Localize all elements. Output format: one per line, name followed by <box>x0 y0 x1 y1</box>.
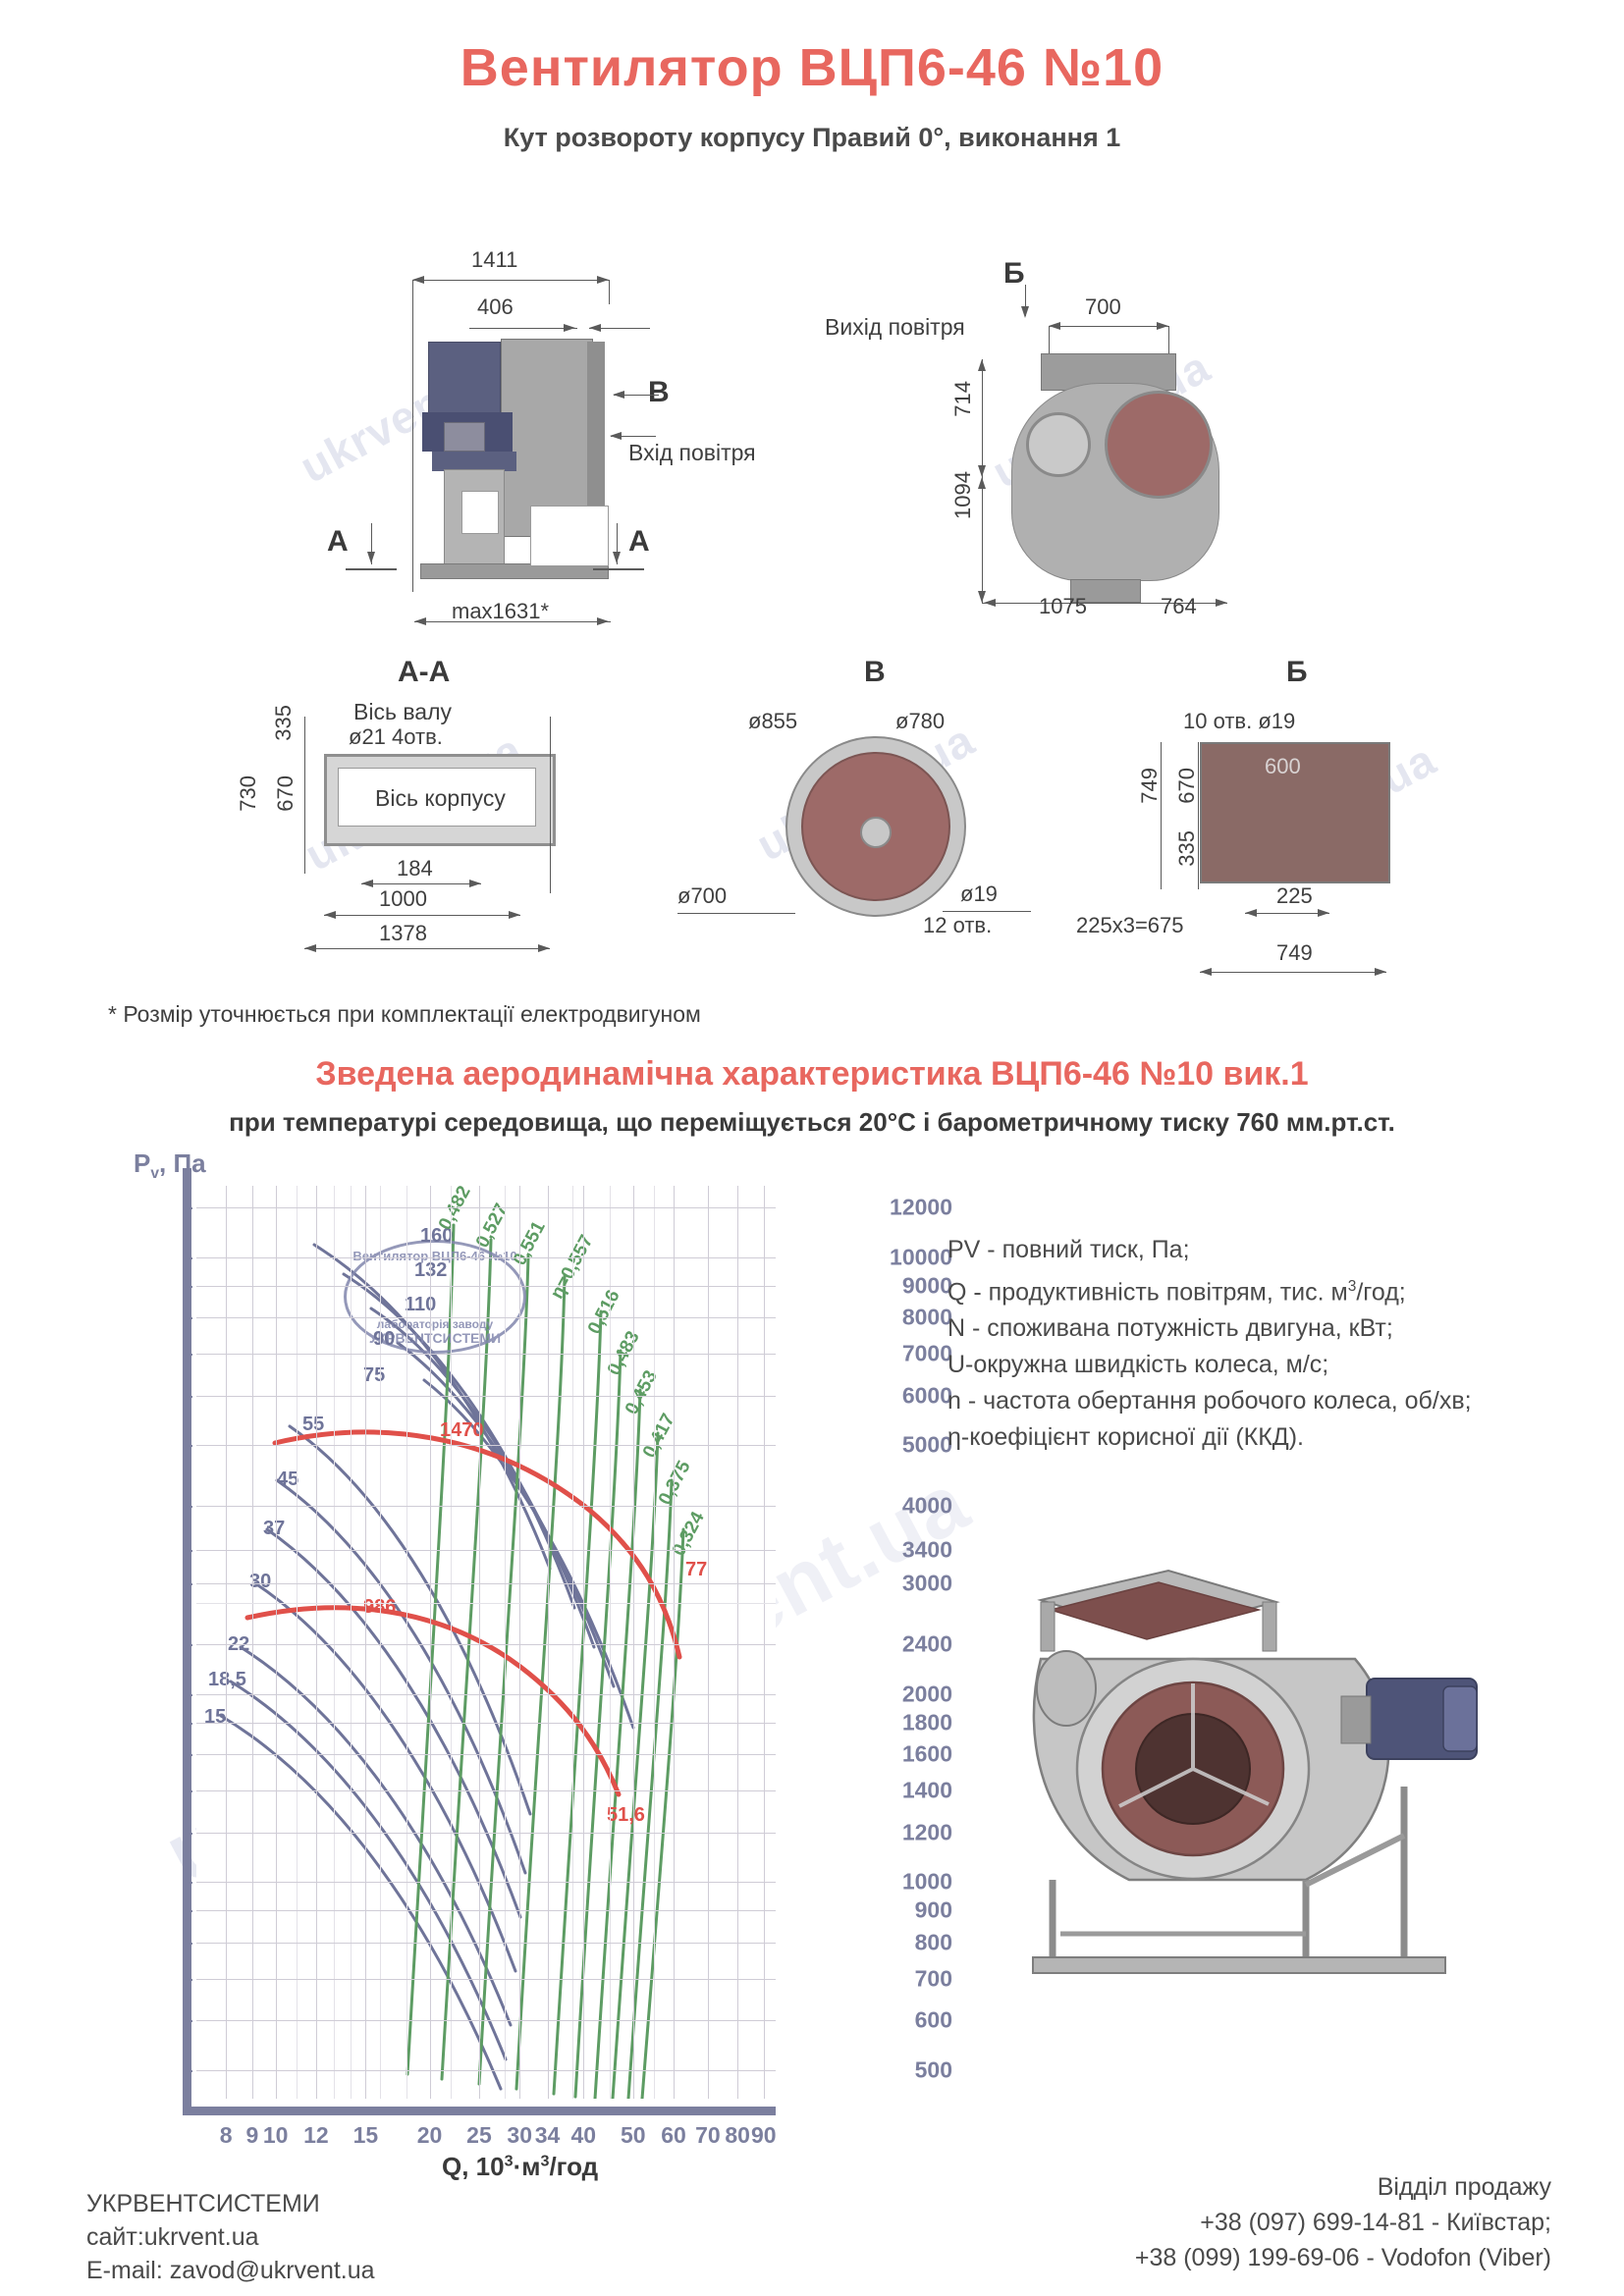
y-tick-label: 1800 <box>862 1709 952 1735</box>
dim-670: 670 <box>273 775 298 812</box>
datasheet-page: Вентилятор ВЦП6-46 №10 Кут розвороту кор… <box>0 0 1624 2296</box>
dim-line <box>361 883 481 884</box>
rpm-label: 1470 <box>440 1419 484 1442</box>
grid-line-h <box>196 1882 776 1883</box>
y-tick-label: 6000 <box>862 1382 952 1409</box>
x-tick-label: 40 <box>571 2122 597 2149</box>
legend-line-n: N - споживана потужність двигуна, кВт; <box>947 1310 1472 1347</box>
y-tick <box>183 1354 192 1356</box>
y-tick <box>183 2070 192 2072</box>
grid-line-h <box>196 1257 776 1258</box>
grid-line-h <box>196 1550 776 1551</box>
dim-1378: 1378 <box>379 921 427 946</box>
y-tick <box>183 1286 192 1288</box>
mark-line <box>593 568 644 570</box>
y-tick-label: 3000 <box>862 1571 952 1597</box>
dim-335: 335 <box>271 705 297 741</box>
grid-line-v <box>365 1186 366 2099</box>
sales-title: Відділ продажу <box>1080 2169 1551 2205</box>
x-axis-title: Q, 103·м3/год <box>442 2152 598 2182</box>
y-tick-label: 4000 <box>862 1492 952 1519</box>
u-label: 37 <box>263 1518 285 1540</box>
dim-700: ø700 <box>677 883 727 909</box>
email[interactable]: E-mail: zavod@ukrvent.ua <box>86 2254 375 2287</box>
y-tick-label: 2400 <box>862 1631 952 1658</box>
section-v-title: В <box>864 656 886 689</box>
arrow <box>414 617 426 625</box>
x-tick-label: 60 <box>661 2122 686 2149</box>
u-label: 15 <box>204 1706 226 1729</box>
arrow <box>1021 306 1029 318</box>
x-tick-label: 20 <box>417 2122 443 2149</box>
grid-line-h <box>196 1910 776 1911</box>
grid-line-v <box>316 1186 317 2099</box>
arrow <box>610 432 622 440</box>
grid-line-v <box>479 1186 480 2099</box>
y-tick-label: 1400 <box>862 1778 952 1804</box>
y-tick-label: 900 <box>862 1897 952 1924</box>
dim-holes-21: ø21 4отв. <box>349 724 443 750</box>
mark-line <box>346 568 397 570</box>
arrow <box>984 599 996 607</box>
grid-line-v <box>548 1186 549 2099</box>
u-label: 45 <box>277 1468 298 1491</box>
dim-line <box>1049 326 1168 327</box>
y-tick-label: 9000 <box>862 1272 952 1299</box>
grid-line-v <box>430 1186 431 2099</box>
chart-title: Зведена аеродинамічна характеристика ВЦП… <box>0 1055 1624 1094</box>
grid-line-v <box>505 1186 506 2099</box>
legend-q-text: Q - продуктивність повітрям, тис. м <box>947 1278 1348 1306</box>
page-subtitle: Кут розвороту корпусу Правий 0°, виконан… <box>0 123 1624 153</box>
footnote: * Розмір уточнюється при комплектації ел… <box>108 1001 701 1028</box>
phone-kyivstar[interactable]: +38 (097) 699-14-81 - Київстар; <box>1080 2205 1551 2240</box>
arrow <box>1245 909 1257 917</box>
u-label: 90 <box>373 1328 395 1351</box>
efficiency-curves <box>407 1225 683 2099</box>
grid-line-h <box>196 1833 776 1834</box>
dim-749-left: 749 <box>1137 768 1163 804</box>
y-tick <box>183 1910 192 1912</box>
speed-label: 51,6 <box>607 1804 645 1827</box>
dim-19: ø19 <box>960 881 998 907</box>
grid-line-h <box>196 1445 776 1446</box>
u-label: 132 <box>414 1259 447 1282</box>
grid-line-h <box>196 2070 776 2071</box>
y-tick-label: 5000 <box>862 1432 952 1459</box>
y-tick <box>183 2020 192 2022</box>
phone-vodafone[interactable]: +38 (099) 199-69-06 - Vodofon (Viber) <box>1080 2240 1551 2275</box>
grid-line-v <box>572 1186 573 2099</box>
y-tick <box>183 1790 192 1792</box>
y-tick <box>183 1979 192 1981</box>
grid-line-v <box>764 1186 765 2099</box>
grid-line-v <box>252 1186 253 2099</box>
grid-line-h <box>196 1583 776 1584</box>
arrow <box>509 911 520 919</box>
grid-line-v <box>406 1186 407 2099</box>
y-tick-label: 700 <box>862 1965 952 1992</box>
arrow <box>538 944 550 952</box>
mark-v: В <box>648 376 670 409</box>
footer-left: УКРВЕНТСИСТЕМИ сайт:ukrvent.ua E-mail: z… <box>86 2187 375 2287</box>
y-tick-label: 500 <box>862 2056 952 2083</box>
grid-line-v <box>519 1186 520 2099</box>
inlet-opening <box>530 506 609 566</box>
grid-line-h <box>196 1943 776 1944</box>
company-name: УКРВЕНТСИСТЕМИ <box>86 2187 375 2220</box>
dim-line <box>1200 972 1386 973</box>
dim-225: 225 <box>1276 883 1313 909</box>
grid-line-h <box>196 1723 776 1724</box>
aerodynamic-chart: Pv, Па <box>88 1158 952 2140</box>
x-tick-label: 90 <box>751 2122 777 2149</box>
dim-764: 764 <box>1161 594 1197 619</box>
grid-line-v <box>451 1186 452 2099</box>
ext-line <box>1049 326 1050 355</box>
grid-line-v <box>674 1186 675 2099</box>
grid-line-h <box>196 2020 776 2021</box>
label-shaft-axis: Вісь валу <box>353 699 452 725</box>
y-axis <box>183 1168 191 2115</box>
y-tick-label: 12000 <box>862 1195 952 1221</box>
y-tick-label: 3400 <box>862 1536 952 1563</box>
page-title: Вентилятор ВЦП6-46 №10 <box>0 37 1624 98</box>
motor-foot <box>432 452 516 471</box>
grid-line-v <box>334 1186 335 2099</box>
arrow <box>1200 968 1212 976</box>
dim-714: 714 <box>950 381 976 417</box>
y-tick <box>183 1257 192 1259</box>
y-tick-label: 10000 <box>862 1244 952 1270</box>
chart-legend: PV - повний тиск, Па; Q - продуктивність… <box>947 1232 1472 1456</box>
arrow <box>613 552 621 563</box>
section-b-title: Б <box>1286 656 1308 689</box>
ext-line <box>412 280 413 592</box>
grid-line-h <box>196 1644 776 1645</box>
y-tick-label: 1000 <box>862 1869 952 1896</box>
dim-line <box>982 477 983 603</box>
x-tick-label: 34 <box>535 2122 561 2149</box>
arrow <box>597 276 609 284</box>
legend-line-rpm: n - частота обертання робочого колеса, о… <box>947 1383 1472 1419</box>
y-tick <box>183 1506 192 1508</box>
y-tick-label: 7000 <box>862 1341 952 1367</box>
plot-area: Вентилятор ВЦП6-46 №10 лабораторія завод… <box>196 1186 776 2099</box>
arrow <box>978 465 986 477</box>
product-photo <box>982 1541 1532 2032</box>
dim-855: ø855 <box>748 709 797 734</box>
y-tick <box>183 1833 192 1835</box>
grid-line-h <box>196 1603 776 1604</box>
arrow <box>361 880 373 887</box>
hub <box>860 817 892 848</box>
motor-detail <box>444 422 485 452</box>
grid-line-h <box>196 1694 776 1695</box>
x-tick-label: 10 <box>263 2122 289 2149</box>
y-tick <box>183 1644 192 1646</box>
dim-406: 406 <box>477 294 514 320</box>
x-axis <box>187 2107 776 2115</box>
grid-line-h <box>196 1354 776 1355</box>
arrow <box>1049 322 1060 330</box>
grid-line-h <box>196 1754 776 1755</box>
ext-line <box>304 717 305 874</box>
dim-line <box>982 359 983 477</box>
label-air-outlet: Вихід повітря <box>825 314 965 341</box>
dim-335-b: 335 <box>1174 830 1200 867</box>
inlet-flange <box>1026 412 1091 477</box>
section-aa-title: A-A <box>398 656 450 689</box>
y-tick <box>183 1317 192 1319</box>
grid-line-v <box>633 1186 634 2099</box>
grid-line-v <box>583 1186 584 2099</box>
y-tick-label: 8000 <box>862 1305 952 1331</box>
u-label: 110 <box>405 1294 436 1316</box>
footer-right: Відділ продажу +38 (097) 699-14-81 - Киї… <box>1080 2169 1551 2275</box>
mark-a-left: A <box>327 525 349 559</box>
arrow <box>367 552 375 563</box>
x-tick-label: 80 <box>725 2122 750 2149</box>
grid-line-h <box>196 1979 776 1980</box>
dim-line <box>304 948 550 949</box>
grid-line-v <box>654 1186 655 2099</box>
y-tick <box>183 1723 192 1725</box>
grid-line-h <box>196 1506 776 1507</box>
dim-225x3: 225х3=675 <box>1076 913 1184 938</box>
y-tick-label: 1600 <box>862 1741 952 1768</box>
u-label: 18,5 <box>208 1669 246 1691</box>
mark-b: Б <box>1003 257 1025 291</box>
ext-line <box>550 717 551 893</box>
grid-line-v <box>351 1186 352 2099</box>
dim-1094: 1094 <box>950 471 976 519</box>
arrow <box>324 911 336 919</box>
dim-1075: 1075 <box>1039 594 1087 619</box>
y-tick <box>183 1694 192 1696</box>
mark-a-right: A <box>628 525 650 559</box>
impeller <box>1105 391 1213 499</box>
grid-line-v <box>737 1186 738 2099</box>
y-tick <box>183 1943 192 1945</box>
dim-730: 730 <box>236 775 261 812</box>
dim-184: 184 <box>397 856 433 881</box>
grid-line-h <box>196 1790 776 1791</box>
u-label: 55 <box>302 1414 324 1436</box>
grid-line-v <box>708 1186 709 2099</box>
grid-line-v <box>297 1186 298 2099</box>
ext-line <box>1161 742 1162 889</box>
arrow <box>613 391 624 399</box>
grid-line-h <box>196 1286 776 1287</box>
legend-line-u: U-окружна швидкість колеса, м/с; <box>947 1347 1472 1383</box>
x-tick-label: 70 <box>695 2122 721 2149</box>
y-tick-label: 800 <box>862 1929 952 1955</box>
dim-780: ø780 <box>895 709 945 734</box>
arrow <box>412 276 424 284</box>
grid-line-h <box>196 1396 776 1397</box>
dim-max1631: max1631* <box>452 599 549 624</box>
y-tick <box>183 1754 192 1756</box>
grid-line-h <box>196 1317 776 1318</box>
y-tick-label: 2000 <box>862 1681 952 1707</box>
x-tick-label: 50 <box>621 2122 646 2149</box>
x-tick-label: 12 <box>303 2122 329 2149</box>
x-tick-label: 15 <box>353 2122 379 2149</box>
website[interactable]: сайт:ukrvent.ua <box>86 2220 375 2254</box>
y-tick <box>183 1207 192 1209</box>
dim-line <box>412 280 609 281</box>
grid-line-h <box>196 1207 776 1208</box>
y-tick <box>183 1550 192 1552</box>
legend-line-q: Q - продуктивність повітрям, тис. м3/год… <box>947 1268 1472 1310</box>
y-tick <box>183 1396 192 1398</box>
arrow <box>597 617 609 625</box>
arrow <box>469 880 481 887</box>
arrow <box>1216 599 1227 607</box>
dim-700: 700 <box>1085 294 1121 320</box>
dim-1000: 1000 <box>379 886 427 912</box>
arrow <box>978 359 986 371</box>
grid-line-v <box>610 1186 611 2099</box>
arrow <box>1157 322 1168 330</box>
dim-1411: 1411 <box>471 247 517 273</box>
y-tick-label: 600 <box>862 2007 952 2034</box>
grid-line-v <box>226 1186 227 2099</box>
chart-subtitle: при температурі середовища, що переміщує… <box>0 1107 1624 1138</box>
leader-line <box>677 913 795 914</box>
grid-line-v <box>276 1186 277 2099</box>
arrow <box>564 324 575 332</box>
motor-block <box>428 342 501 420</box>
x-tick-label: 30 <box>507 2122 532 2149</box>
grid-line-v <box>380 1186 381 2099</box>
ext-line <box>1168 326 1169 355</box>
x-tick-label: 25 <box>466 2122 492 2149</box>
legend-line-pv: PV - повний тиск, Па; <box>947 1232 1472 1268</box>
ext-line <box>1198 742 1199 889</box>
y-tick <box>183 1882 192 1884</box>
ext-line <box>609 280 610 304</box>
arrow <box>589 324 601 332</box>
dim-line <box>324 915 520 916</box>
y-tick-label: 1200 <box>862 1819 952 1845</box>
frame-window <box>461 491 499 534</box>
dim-line <box>469 328 577 329</box>
y-axis-title: Pv, Па <box>134 1148 206 1183</box>
x-tick-label: 9 <box>245 2122 258 2149</box>
dim-10-holes: 10 отв. ø19 <box>1183 709 1295 734</box>
y-tick <box>183 1583 192 1585</box>
y-tick <box>183 1445 192 1447</box>
dim-670-b: 670 <box>1174 768 1200 804</box>
x-tick-label: 8 <box>220 2122 233 2149</box>
label-air-inlet: Вхід повітря <box>628 440 756 466</box>
arrow <box>978 477 986 489</box>
arrow <box>1318 909 1329 917</box>
speed-label: 77 <box>685 1559 707 1581</box>
label-body-axis: Вісь корпусу <box>375 785 506 812</box>
arrow <box>1375 968 1386 976</box>
dim-12-holes: 12 отв. <box>923 913 992 938</box>
dim-749-bottom: 749 <box>1276 940 1313 966</box>
legend-line-eta: η-коефіцієнт корисної дії (ККД). <box>947 1419 1472 1456</box>
arrow <box>304 944 316 952</box>
dim-600: 600 <box>1265 754 1301 779</box>
legend-q-unit: /год; <box>1356 1278 1405 1306</box>
